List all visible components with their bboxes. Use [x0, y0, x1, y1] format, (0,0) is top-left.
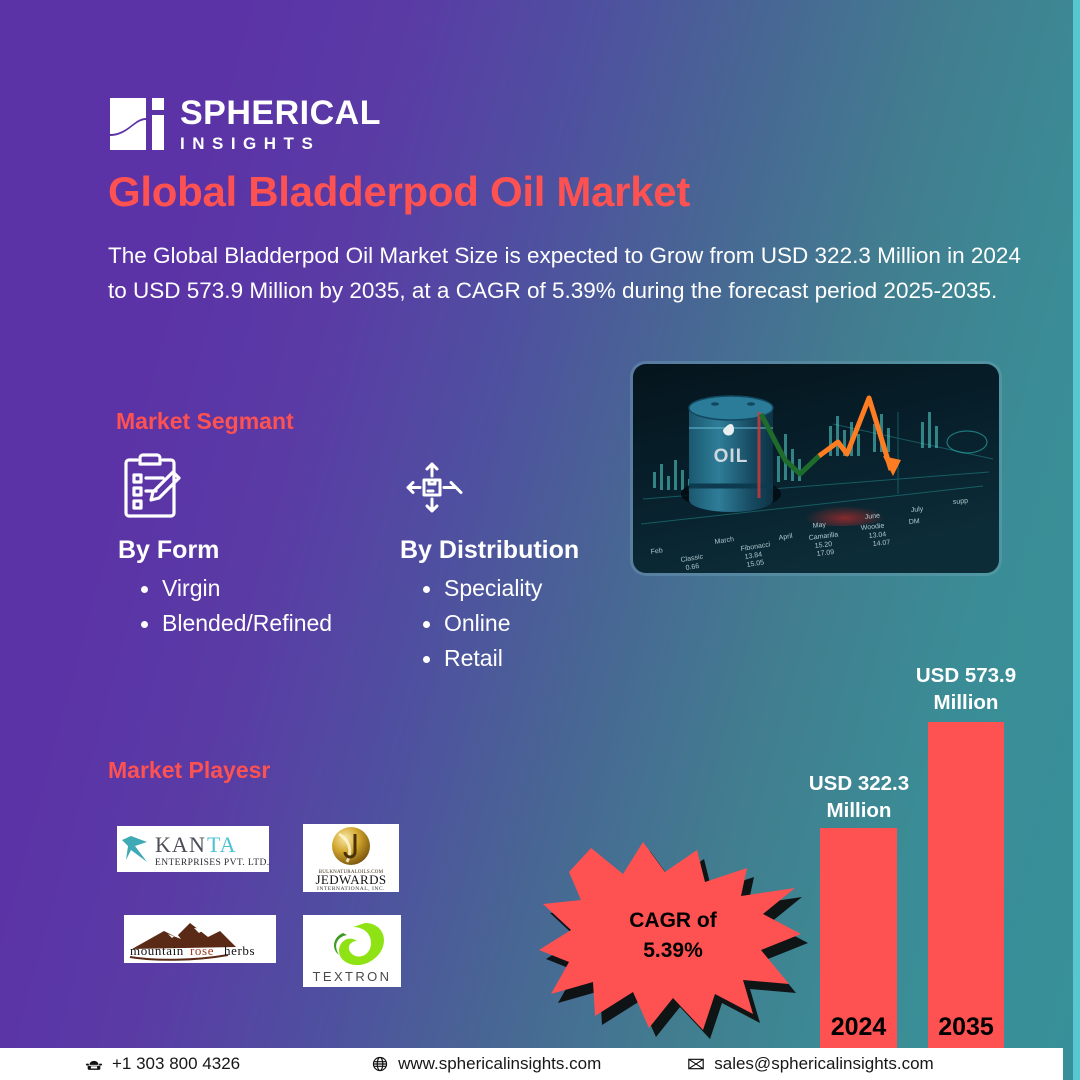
list-item: Online: [400, 606, 579, 641]
cagr-line-1: CAGR of: [537, 906, 809, 936]
jedwards-international-logo[interactable]: BULKNATURALOILS.COM JEDWARDS INTERNATION…: [303, 824, 399, 892]
footer-email[interactable]: sales@sphericalinsights.com: [687, 1054, 933, 1074]
globe-icon: [371, 1055, 389, 1073]
mountain-rose-herbs-logo-art: mountain rose herbs: [124, 915, 276, 963]
svg-text:TA: TA: [207, 832, 237, 857]
list-item: Speciality: [400, 571, 579, 606]
svg-text:INTERNATIONAL, INC.: INTERNATIONAL, INC.: [317, 886, 385, 892]
footer-contact-bar: +1 303 800 4326 www.sphericalinsights.co…: [0, 1048, 1063, 1080]
cagr-badge: CAGR of 5.39%: [537, 838, 809, 1046]
clipboard-pencil-icon: [118, 452, 182, 524]
segment-list-by-form: Virgin Blended/Refined: [118, 571, 332, 641]
list-item: Blended/Refined: [118, 606, 332, 641]
svg-text:N: N: [189, 832, 206, 857]
footer-website[interactable]: www.sphericalinsights.com: [371, 1054, 601, 1074]
spherical-insights-logo-mark: [108, 96, 166, 152]
segment-list-by-distribution: Speciality Online Retail: [400, 571, 579, 676]
brand-name: SPHERICAL: [180, 96, 381, 130]
hero-illustration: OIL Feb Classic 0.66 March Fibonacci 13.…: [633, 364, 999, 573]
right-edge-accent-strip: [1073, 0, 1080, 1080]
bar-value-2035-line2: Million: [893, 689, 1039, 716]
bar-value-2024-line2: Million: [790, 797, 928, 824]
svg-text:DM: DM: [909, 518, 921, 526]
telephone-icon: [85, 1055, 103, 1073]
bar-value-2035: USD 573.9 Million: [893, 662, 1039, 716]
footer-phone-text: +1 303 800 4326: [112, 1054, 240, 1074]
brand-tagline: INSIGHTS: [180, 135, 381, 152]
svg-text:mountain: mountain: [130, 943, 184, 958]
market-segment-heading: Market Segmant: [116, 408, 294, 435]
cagr-text: CAGR of 5.39%: [537, 906, 809, 966]
distribution-arrows-icon: [400, 452, 464, 524]
bar-year-label-2035: 2035: [928, 1013, 1004, 1042]
kanta-logo-art: KA N TA ENTERPRISES PVT. LTD.: [117, 826, 269, 872]
segment-column-by-form: By Form Virgin Blended/Refined: [118, 452, 332, 641]
cagr-line-2: 5.39%: [537, 936, 809, 966]
textron-logo-art: TEXTRON: [303, 915, 401, 987]
svg-text:KA: KA: [155, 832, 189, 857]
svg-text:OIL: OIL: [714, 446, 749, 467]
list-item: Virgin: [118, 571, 332, 606]
footer-website-text: www.sphericalinsights.com: [398, 1054, 601, 1074]
segment-title-by-distribution: By Distribution: [400, 536, 579, 565]
bar-value-2035-line1: USD 573.9: [893, 662, 1039, 689]
page-title: Global Bladderpod Oil Market: [108, 168, 690, 216]
bar-2024: 2024: [820, 828, 897, 1048]
intro-paragraph: The Global Bladderpod Oil Market Size is…: [108, 238, 1028, 308]
brand-logo[interactable]: SPHERICAL INSIGHTS: [108, 96, 381, 152]
bar-year-label-2024: 2024: [820, 1013, 897, 1042]
bar-value-2024: USD 322.3 Million: [790, 770, 928, 824]
svg-text:JEDWARDS: JEDWARDS: [315, 872, 386, 887]
svg-text:July: July: [911, 506, 925, 514]
svg-text:ENTERPRISES PVT. LTD.: ENTERPRISES PVT. LTD.: [155, 858, 269, 868]
svg-text:supp: supp: [953, 498, 969, 506]
segment-title-by-form: By Form: [118, 536, 332, 565]
segment-column-by-distribution: By Distribution Speciality Online Retail: [400, 452, 579, 676]
svg-text:TEXTRON: TEXTRON: [313, 969, 392, 984]
market-players-heading: Market Playesr: [108, 757, 270, 784]
kanta-enterprises-logo[interactable]: KA N TA ENTERPRISES PVT. LTD.: [117, 826, 269, 872]
mountain-rose-herbs-logo[interactable]: mountain rose herbs: [124, 915, 276, 963]
textron-logo[interactable]: TEXTRON: [303, 915, 401, 987]
svg-text:herbs: herbs: [224, 943, 255, 958]
jedwards-logo-art: BULKNATURALOILS.COM JEDWARDS INTERNATION…: [303, 824, 399, 892]
infographic-poster: SPHERICAL INSIGHTS Global Bladderpod Oil…: [0, 0, 1080, 1080]
list-item: Retail: [400, 641, 579, 676]
footer-email-text: sales@sphericalinsights.com: [714, 1054, 933, 1074]
svg-text:rose: rose: [190, 943, 214, 958]
envelope-icon: [687, 1055, 705, 1073]
oil-barrel-trading-chart-image: OIL Feb Classic 0.66 March Fibonacci 13.…: [633, 364, 999, 573]
footer-phone[interactable]: +1 303 800 4326: [85, 1054, 240, 1074]
bar-2035: 2035: [928, 722, 1004, 1048]
bar-value-2024-line1: USD 322.3: [790, 770, 928, 797]
